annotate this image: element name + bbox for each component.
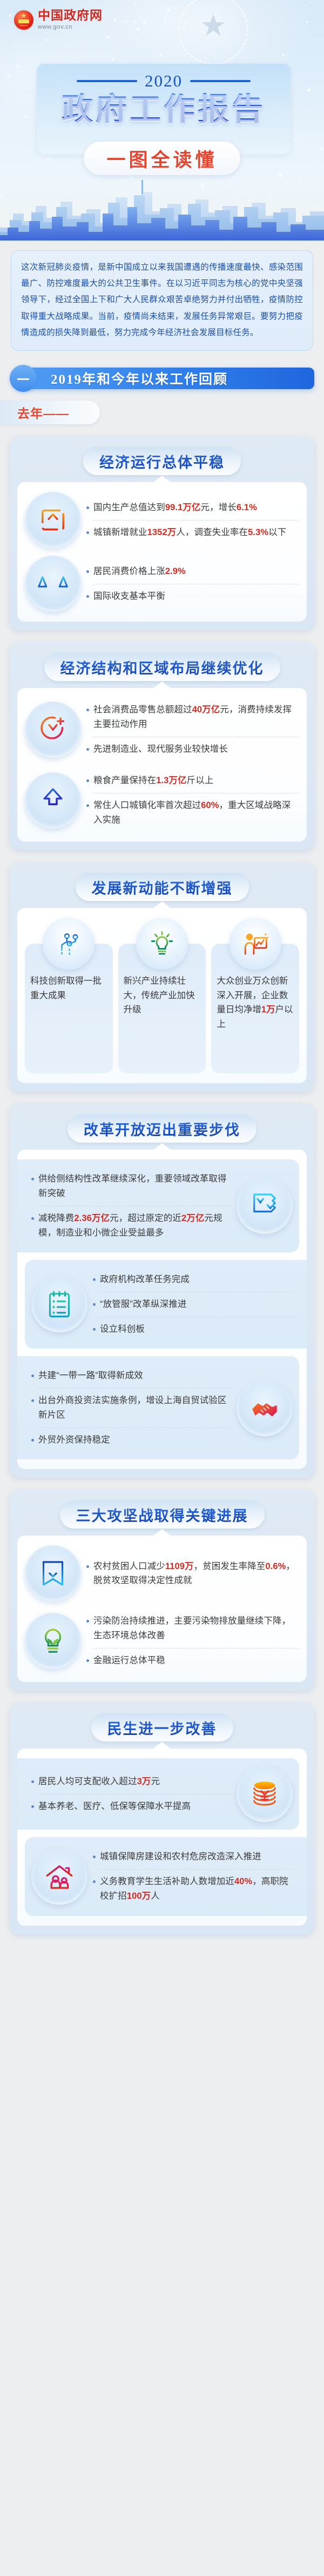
bullet-list: 城镇保障房建设和农村危房改造深入推进义务教育学生生活补助人数增加近40%，高职院… <box>93 1845 293 1908</box>
dash-right-icon <box>190 80 251 82</box>
hero-banner: 中国政府网 www.gov.cn 2020 政府工作报告 一图全读懂 <box>0 0 324 241</box>
bullet-dot-icon <box>93 1303 96 1306</box>
house-family-icon <box>31 1848 87 1905</box>
bullet-text: 共建“一带一路”取得新成效 <box>38 1369 143 1383</box>
green-leaf-bulb-icon <box>25 1613 81 1669</box>
bullet-text: 污染防治持续推进，主要污染物排放量继续下降，生态环境总体改善 <box>93 1614 299 1643</box>
cards-container: 经济运行总体平稳国内生产总值达到99.1万亿元，增长6.1%城镇新增就业1352… <box>0 436 324 1934</box>
card-title-wrap: 经济运行总体平稳 <box>17 447 307 475</box>
bullet-panel: 政府机构改革任务完成“放管服”改革纵深推进设立科创板 <box>25 1260 307 1349</box>
icon-bullets-row: 供给侧结构性改革继续深化，重要领域改革取得新突破减税降费2.36万亿元，超过原定… <box>31 1167 293 1245</box>
card-body: 农村贫困人口减少1109万，贫困发生率降至0.6%，脱贫攻坚取得决定性成就污染防… <box>17 1536 307 1682</box>
highlight-value: 99.1万亿 <box>165 503 201 512</box>
icon-bullets-row: 农村贫困人口减少1109万，贫困发生率降至0.6%，脱贫攻坚取得决定性成就 <box>25 1545 299 1601</box>
bullet-item: 社会消费品零售总额超过40万亿元，消费持续发挥主要拉动作用 <box>86 698 299 736</box>
bullet-text: 外贸外资保持稳定 <box>38 1433 110 1447</box>
column-text: 新兴产业持续壮大，传统产业加快升级 <box>124 974 201 1017</box>
national-emblem-watermark-icon <box>178 0 248 65</box>
bullet-text: 出台外商投资法实施条例，增设上海自贸试验区新片区 <box>38 1393 231 1422</box>
icon-bullets-row: 居民消费价格上涨2.9%国际收支基本平衡 <box>25 556 299 612</box>
bullet-item: 国际收支基本平衡 <box>86 584 299 609</box>
highlight-value: 5.3% <box>248 528 268 537</box>
highlight-value: 2.36万亿 <box>74 1213 110 1223</box>
highlight-value: 40% <box>234 1877 252 1886</box>
bullet-item: 义务教育学生生活补助人数增加近40%，高职院校扩招100万人 <box>93 1870 293 1908</box>
dash-left-icon <box>77 80 137 82</box>
bullet-dot-icon <box>86 595 89 598</box>
bullet-text: 供给侧结构性改革继续深化，重要领域改革取得新突破 <box>38 1172 231 1200</box>
section-title: 2019年和今年以来工作回顾 <box>51 369 228 388</box>
section-header: 2019年和今年以来工作回顾 一 <box>10 364 324 393</box>
icon-bullets-row: 国内生产总值达到99.1万亿元，增长6.1%城镇新增就业1352万人，调查失业率… <box>25 492 299 548</box>
bullet-list: 居民人均可支配收入超过3万元基本养老、医疗、低保等保障水平提高 <box>31 1770 231 1818</box>
tax-cut-receipt-icon <box>237 1178 293 1234</box>
bullet-list: 供给侧结构性改革继续深化，重要领域改革取得新突破减税降费2.36万亿元，超过原定… <box>31 1167 231 1245</box>
bullet-text: 义务教育学生生活补助人数增加近40%，高职院校扩招100万人 <box>100 1874 293 1903</box>
bullet-text: 常住人口城镇化率首次超过60%，重大区域战略深入实施 <box>93 798 299 827</box>
bullet-dot-icon <box>31 1805 34 1808</box>
bullet-item: 金融运行总体平稳 <box>86 1649 299 1673</box>
highlight-value: 40万亿 <box>192 705 220 715</box>
page-tail-spacer <box>0 1934 324 1956</box>
content-card: 经济运行总体平稳国内生产总值达到99.1万亿元，增长6.1%城镇新增就业1352… <box>10 436 314 630</box>
column-item: 新兴产业持续壮大，传统产业加快升级 <box>118 918 206 1073</box>
column-item: 科技创新取得一批重大成果 <box>25 918 113 1073</box>
card-body: 供给侧结构性改革继续深化，重要领域改革取得新突破减税降费2.36万亿元，超过原定… <box>17 1150 307 1469</box>
section-header-bar: 2019年和今年以来工作回顾 <box>27 368 314 389</box>
bullet-panel: 共建“一带一路”取得新成效出台外商投资法实施条例，增设上海自贸试验区新片区外贸外… <box>17 1356 299 1459</box>
card-title-wrap: 经济结构和区域布局继续优化 <box>17 653 307 681</box>
page-title: 政府工作报告 <box>37 92 291 127</box>
bullet-item: 居民消费价格上涨2.9% <box>86 559 299 584</box>
content-card: 改革开放迈出重要步伐供给侧结构性改革继续深化，重要领域改革取得新突破减税降费2.… <box>10 1104 314 1478</box>
content-card: 民生进一步改善居民人均可支配收入超过3万元基本养老、医疗、低保等保障水平提高城镇… <box>10 1703 314 1934</box>
bullet-item: 农村贫困人口减少1109万，贫困发生率降至0.6%，脱贫攻坚取得决定性成就 <box>86 1554 299 1593</box>
bullet-dot-icon <box>86 804 89 807</box>
lightbulb-icon <box>136 918 188 970</box>
highlight-value: 1352万 <box>147 528 177 537</box>
handshake-icon <box>237 1380 293 1436</box>
circuit-chip-icon <box>43 918 94 970</box>
card-body: 社会消费品零售总额超过40万亿元，消费持续发挥主要拉动作用先进制造业、现代服务业… <box>17 688 307 842</box>
card-title-wrap: 民生进一步改善 <box>17 1713 307 1741</box>
bullet-dot-icon <box>31 1439 34 1442</box>
bullet-item: 城镇保障房建设和农村危房改造深入推进 <box>93 1845 293 1869</box>
bullet-dot-icon <box>86 570 89 573</box>
card-title-pill: 三大攻坚战取得关键进展 <box>60 1500 265 1529</box>
highlight-value: 3万 <box>137 1777 151 1786</box>
bullet-dot-icon <box>86 1620 89 1623</box>
column-text: 科技创新取得一批重大成果 <box>30 974 107 1003</box>
bullet-item: 污染防治持续推进，主要污染物排放量继续下降，生态环境总体改善 <box>86 1609 299 1647</box>
bullet-item: 居民人均可支配收入超过3万元 <box>31 1770 231 1794</box>
three-column-group: 科技创新取得一批重大成果新兴产业持续壮大，传统产业加快升级大众创业万众创新深入开… <box>25 918 299 1073</box>
column-item: 大众创业万众创新深入开展，企业数量日均净增1万户以上 <box>211 918 299 1073</box>
bullet-item: 设立科创板 <box>93 1317 293 1342</box>
bullet-text: 粮食产量保持在1.3万亿斤以上 <box>93 773 213 788</box>
card-title-wrap: 发展新动能不断增强 <box>17 873 307 901</box>
highlight-value: 2万亿 <box>181 1213 204 1223</box>
subsection-label: 去年—— <box>0 401 100 424</box>
site-url: www.gov.cn <box>38 24 103 30</box>
bullet-dot-icon <box>31 1399 34 1402</box>
bullet-text: 先进制造业、现代服务业较快增长 <box>93 742 228 757</box>
bullet-dot-icon <box>86 779 89 782</box>
card-title-text: 民生进一步改善 <box>107 1717 217 1738</box>
highlight-value: 0.6% <box>265 1561 286 1571</box>
card-title-text: 改革开放迈出重要步伐 <box>84 1118 240 1139</box>
bullet-dot-icon <box>86 748 89 751</box>
bullet-item: 先进制造业、现代服务业较快增长 <box>86 737 299 762</box>
bullet-dot-icon <box>86 1659 89 1662</box>
highlight-value: 1万 <box>261 1005 275 1015</box>
bullet-item: 共建“一带一路”取得新成效 <box>31 1364 231 1388</box>
bullet-text: 居民消费价格上涨2.9% <box>93 564 186 579</box>
city-skyline-icon <box>0 176 324 241</box>
upgrade-arrow-icon <box>25 772 81 829</box>
bullet-item: 供给侧结构性改革继续深化，重要领域改革取得新突破 <box>31 1167 231 1205</box>
hero-subtitle: 一图全读懂 <box>106 145 217 172</box>
bullet-dot-icon <box>86 531 89 534</box>
bullet-item: 政府机构改革任务完成 <box>93 1267 293 1292</box>
column-text: 大众创业万众创新深入开展，企业数量日均净增1万户以上 <box>217 974 294 1031</box>
bullet-dot-icon <box>93 1278 96 1281</box>
highlight-value: 60% <box>201 800 219 810</box>
highlight-value: 2.9% <box>165 566 186 576</box>
bullet-dot-icon <box>31 1374 34 1377</box>
card-title-pill: 发展新动能不断增强 <box>76 873 249 901</box>
bullet-item: 常住人口城镇化率首次超过60%，重大区域战略深入实施 <box>86 793 299 832</box>
bullet-text: 城镇保障房建设和农村危房改造深入推进 <box>100 1850 261 1864</box>
gdp-up-arrow-icon <box>25 492 81 548</box>
bullet-list: 污染防治持续推进，主要污染物排放量继续下降，生态环境总体改善金融运行总体平稳 <box>86 1609 299 1672</box>
subsection-text: 去年—— <box>17 403 69 422</box>
hero-subtitle-pill: 一图全读懂 <box>84 142 240 175</box>
bullet-dot-icon <box>86 709 89 711</box>
card-title-wrap: 三大攻坚战取得关键进展 <box>17 1500 307 1529</box>
bullet-list: 粮食产量保持在1.3万亿斤以上常住人口城镇化率首次超过60%，重大区域战略深入实… <box>86 769 299 832</box>
card-title-text: 发展新动能不断增强 <box>92 877 233 898</box>
card-body: 科技创新取得一批重大成果新兴产业持续壮大，传统产业加快升级大众创业万众创新深入开… <box>17 908 307 1083</box>
bullet-item: 粮食产量保持在1.3万亿斤以上 <box>86 769 299 793</box>
bullet-list: 政府机构改革任务完成“放管服”改革纵深推进设立科创板 <box>93 1267 293 1341</box>
bullet-dot-icon <box>93 1856 96 1858</box>
bullet-text: 国际收支基本平衡 <box>93 589 165 604</box>
bullet-text: 基本养老、医疗、低保等保障水平提高 <box>38 1799 191 1814</box>
bullet-item: 出台外商投资法实施条例，增设上海自贸试验区新片区 <box>31 1389 231 1427</box>
person-chart-icon <box>230 918 281 970</box>
bullet-item: 基本养老、医疗、低保等保障水平提高 <box>31 1794 231 1819</box>
bullet-dot-icon <box>93 1880 96 1883</box>
bullet-text: 国内生产总值达到99.1万亿元，增长6.1% <box>93 500 257 515</box>
yuan-plus-icon <box>25 702 81 758</box>
site-logo[interactable]: 中国政府网 www.gov.cn <box>14 10 103 30</box>
bullet-dot-icon <box>86 1565 89 1568</box>
bullet-text: 金融运行总体平稳 <box>93 1653 165 1668</box>
bullet-text: 城镇新增就业1352万人，调查失业率在5.3%以下 <box>93 525 286 540</box>
card-title-pill: 经济结构和区域布局继续优化 <box>44 653 280 681</box>
icon-bullets-row: 污染防治持续推进，主要污染物排放量继续下降，生态环境总体改善金融运行总体平稳 <box>25 1609 299 1672</box>
bullet-text: 农村贫困人口减少1109万，贫困发生率降至0.6%，脱贫攻坚取得决定性成就 <box>93 1559 299 1588</box>
icon-bullets-row: 居民人均可支配收入超过3万元基本养老、医疗、低保等保障水平提高 <box>31 1766 293 1822</box>
card-title-pill: 改革开放迈出重要步伐 <box>67 1115 256 1143</box>
balance-scale-icon <box>25 556 81 612</box>
bullet-list: 社会消费品零售总额超过40万亿元，消费持续发挥主要拉动作用先进制造业、现代服务业… <box>86 698 299 761</box>
icon-bullets-row: 粮食产量保持在1.3万亿斤以上常住人口城镇化率首次超过60%，重大区域战略深入实… <box>25 769 299 832</box>
icon-bullets-row: 共建“一带一路”取得新成效出台外商投资法实施条例，增设上海自贸试验区新片区外贸外… <box>31 1364 293 1452</box>
icon-bullets-row: 社会消费品零售总额超过40万亿元，消费持续发挥主要拉动作用先进制造业、现代服务业… <box>25 698 299 761</box>
bullet-list: 居民消费价格上涨2.9%国际收支基本平衡 <box>86 559 299 608</box>
highlight-value: 6.1% <box>237 503 257 512</box>
bullet-list: 共建“一带一路”取得新成效出台外商投资法实施条例，增设上海自贸试验区新片区外贸外… <box>31 1364 231 1452</box>
icon-bullets-row: 政府机构改革任务完成“放管服”改革纵深推进设立科创板 <box>31 1267 293 1341</box>
card-title-pill: 经济运行总体平稳 <box>83 447 241 475</box>
card-title-text: 三大攻坚战取得关键进展 <box>76 1504 248 1525</box>
highlight-value: 100万 <box>127 1891 151 1901</box>
highlight-value: 1109万 <box>165 1561 194 1571</box>
bullet-dot-icon <box>31 1178 34 1180</box>
clipboard-list-icon <box>31 1276 87 1332</box>
bullet-item: 外贸外资保持稳定 <box>31 1428 231 1452</box>
national-emblem-icon <box>14 10 33 30</box>
site-name: 中国政府网 <box>38 10 103 22</box>
bullet-item: 减税降费2.36万亿元，超过原定的近2万亿元规模，制造业和小微企业受益最多 <box>31 1206 231 1245</box>
section-number-badge: 一 <box>10 365 37 392</box>
bullet-text: 居民人均可支配收入超过3万元 <box>38 1774 160 1789</box>
bullet-dot-icon <box>31 1780 34 1783</box>
content-card: 三大攻坚战取得关键进展农村贫困人口减少1109万，贫困发生率降至0.6%，脱贫攻… <box>10 1490 314 1691</box>
bullet-item: 城镇新增就业1352万人，调查失业率在5.3%以下 <box>86 520 299 545</box>
bullet-dot-icon <box>86 506 89 509</box>
bullet-text: 设立科创板 <box>100 1322 145 1337</box>
card-title-wrap: 改革开放迈出重要步伐 <box>17 1115 307 1143</box>
bullet-list: 农村贫困人口减少1109万，贫困发生率降至0.6%，脱贫攻坚取得决定性成就 <box>86 1554 299 1593</box>
bullet-list: 国内生产总值达到99.1万亿元，增长6.1%城镇新增就业1352万人，调查失业率… <box>86 496 299 544</box>
infographic-page: 中国政府网 www.gov.cn 2020 政府工作报告 一图全读懂 <box>0 0 324 1956</box>
title-plate: 2020 政府工作报告 <box>37 64 291 155</box>
bullet-item: “放管服”改革纵深推进 <box>93 1292 293 1317</box>
card-body: 国内生产总值达到99.1万亿元，增长6.1%城镇新增就业1352万人，调查失业率… <box>17 482 307 622</box>
card-title-pill: 民生进一步改善 <box>91 1713 233 1741</box>
bullet-panel: 居民人均可支配收入超过3万元基本养老、医疗、低保等保障水平提高 <box>17 1758 299 1830</box>
bullet-panel: 供给侧结构性改革继续深化，重要领域改革取得新突破减税降费2.36万亿元，超过原定… <box>17 1159 299 1252</box>
content-card: 发展新动能不断增强科技创新取得一批重大成果新兴产业持续壮大，传统产业加快升级大众… <box>10 862 314 1092</box>
bullet-item: 国内生产总值达到99.1万亿元，增长6.1% <box>86 496 299 520</box>
hero-year: 2020 <box>145 71 183 91</box>
icon-bullets-row: 城镇保障房建设和农村危房改造深入推进义务教育学生生活补助人数增加近40%，高职院… <box>31 1845 293 1908</box>
bullet-dot-icon <box>93 1328 96 1331</box>
bullet-text: 政府机构改革任务完成 <box>100 1272 190 1287</box>
card-title-text: 经济运行总体平稳 <box>99 451 225 472</box>
card-title-text: 经济结构和区域布局继续优化 <box>60 657 264 678</box>
poverty-down-icon <box>25 1545 81 1601</box>
intro-paragraph: 这次新冠肺炎疫情，是新中国成立以来我国遭遇的传播速度最快、感染范围最广、防控难度… <box>21 259 303 341</box>
coin-stack-icon <box>237 1766 293 1822</box>
bullet-dot-icon <box>31 1217 34 1220</box>
bullet-text: 社会消费品零售总额超过40万亿元，消费持续发挥主要拉动作用 <box>93 703 299 731</box>
highlight-value: 1.3万亿 <box>156 776 186 785</box>
intro-card: 这次新冠肺炎疫情，是新中国成立以来我国遭遇的传播速度最快、感染范围最广、防控难度… <box>11 250 313 351</box>
bullet-text: “放管服”改革纵深推进 <box>100 1297 187 1312</box>
intro-section: 这次新冠肺炎疫情，是新中国成立以来我国遭遇的传播速度最快、感染范围最广、防控难度… <box>0 241 324 351</box>
card-body: 居民人均可支配收入超过3万元基本养老、医疗、低保等保障水平提高城镇保障房建设和农… <box>17 1749 307 1925</box>
content-card: 经济结构和区域布局继续优化社会消费品零售总额超过40万亿元，消费持续发挥主要拉动… <box>10 642 314 850</box>
bullet-text: 减税降费2.36万亿元，超过原定的近2万亿元规模，制造业和小微企业受益最多 <box>38 1211 231 1240</box>
bullet-panel: 城镇保障房建设和农村危房改造深入推进义务教育学生生活补助人数增加近40%，高职院… <box>25 1837 307 1916</box>
hero-year-row: 2020 <box>37 71 291 91</box>
